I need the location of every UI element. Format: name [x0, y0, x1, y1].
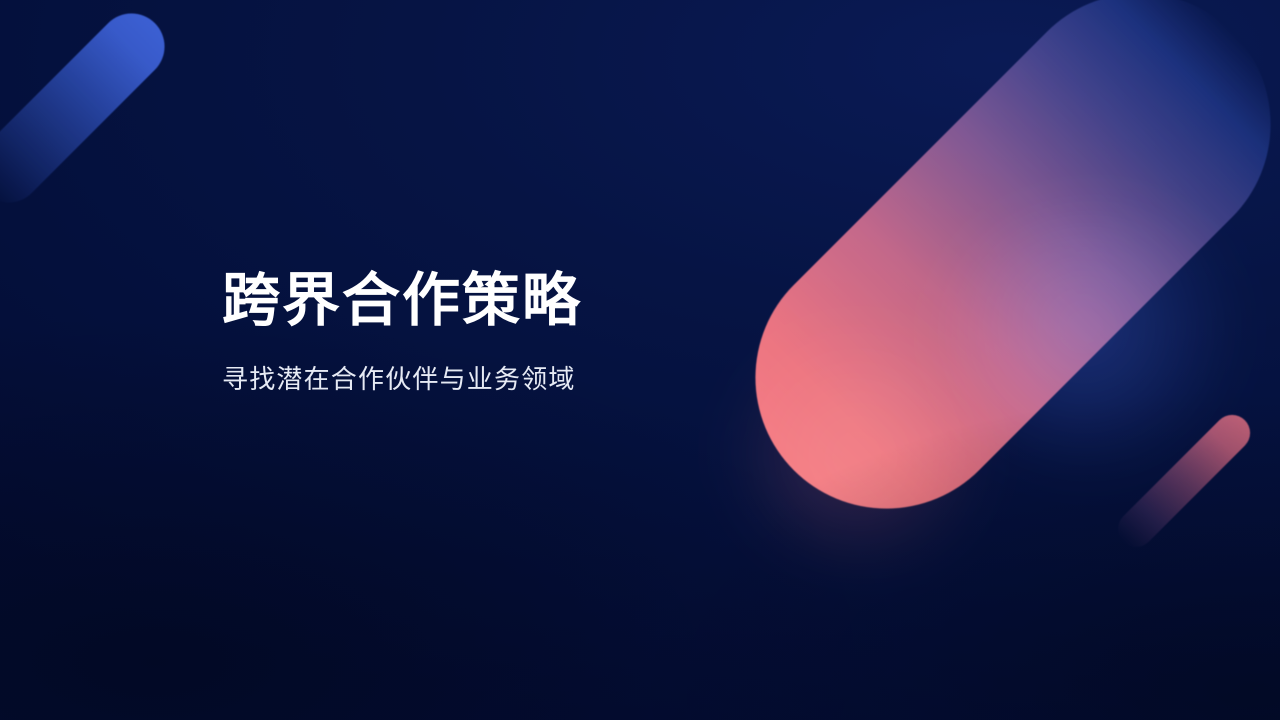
slide-title: 跨界合作策略: [222, 272, 742, 330]
presentation-slide: 跨界合作策略 寻找潜在合作伙伴与业务领域: [0, 0, 1280, 720]
title-block: 跨界合作策略 寻找潜在合作伙伴与业务领域: [222, 272, 742, 395]
slide-subtitle: 寻找潜在合作伙伴与业务领域: [222, 330, 742, 395]
